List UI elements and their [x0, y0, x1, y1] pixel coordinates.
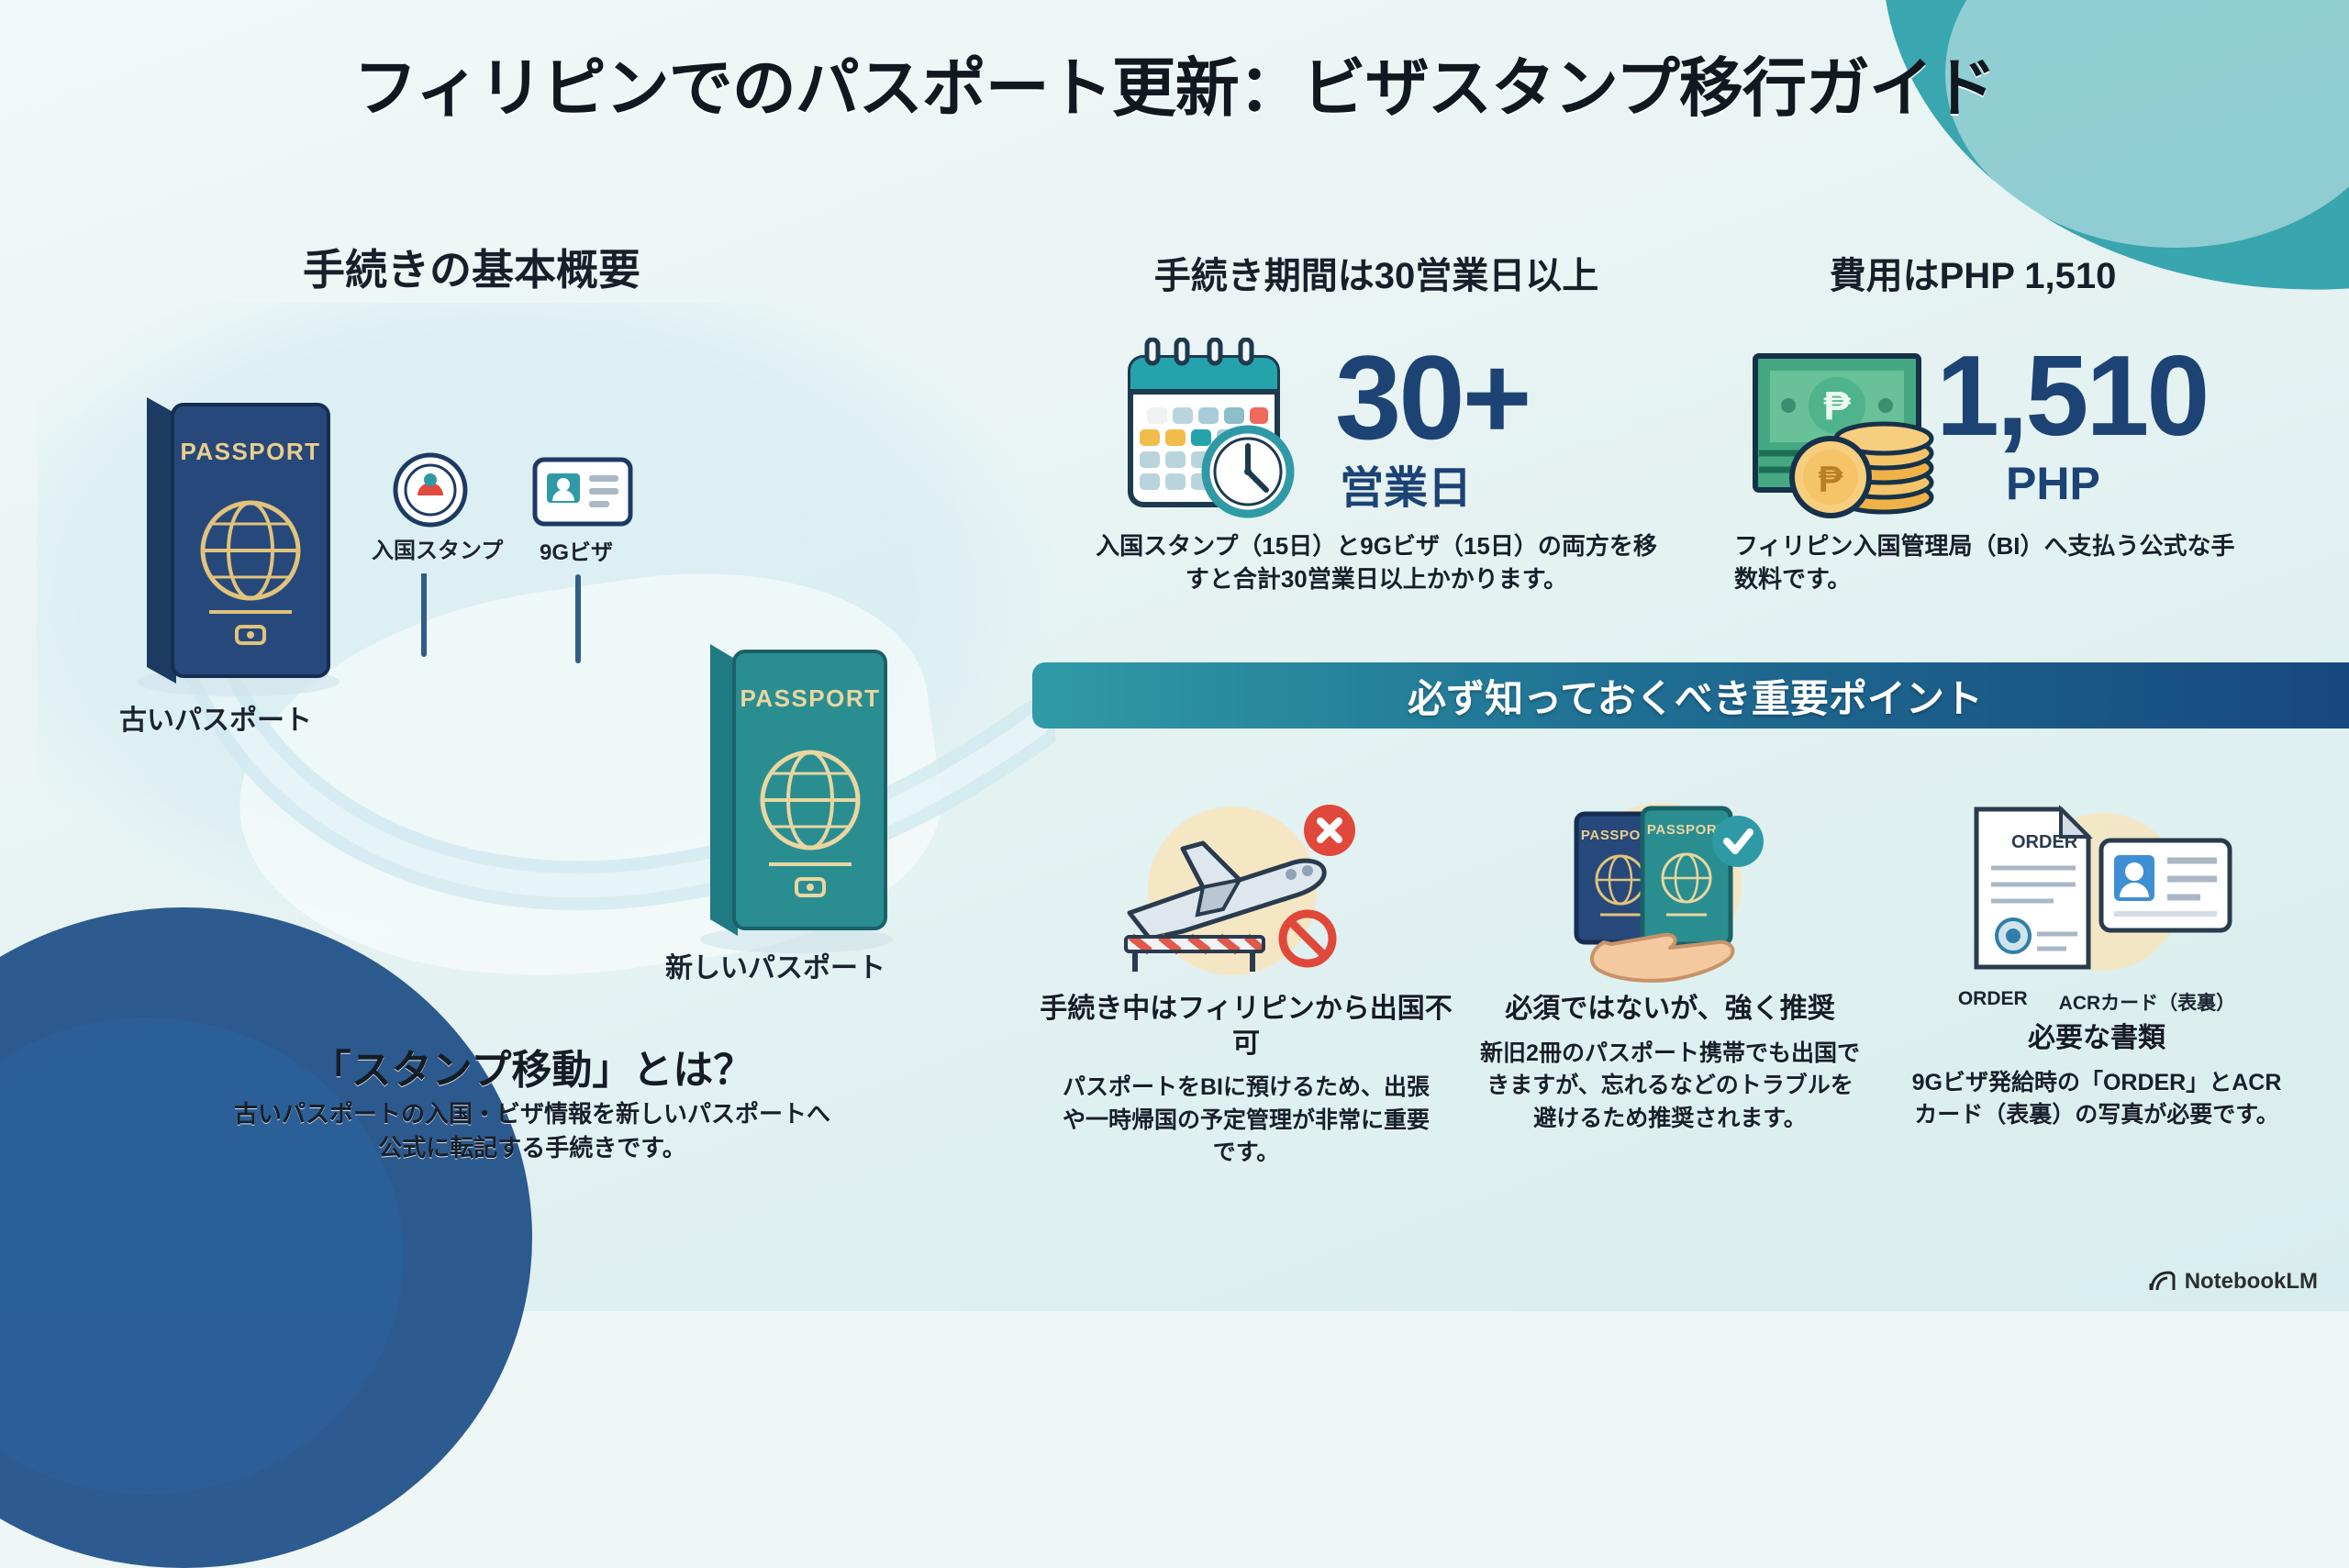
fee-heading: 費用はPHP 1,510	[1743, 246, 2202, 299]
old-passport-icon: PASSPORT	[110, 381, 358, 697]
entry-stamp-label: 入国スタンプ	[372, 532, 503, 564]
duration-heading: 手続き期間は30営業日以上	[1092, 246, 1661, 299]
card-documents: ORDER	[1886, 789, 2308, 1132]
page-title: フィリピンでのパスポート更新：ビザスタンプ移行ガイド	[0, 37, 2349, 129]
card-no-exit-icon-wrap	[1035, 789, 1457, 986]
calendar-clock-icon	[1119, 338, 1317, 521]
key-points-banner-label: 必ず知っておくべき重要ポイント	[1408, 668, 1983, 724]
duration-value: 30+	[1335, 341, 1530, 455]
card-two-passports: PASSPORT PASSPORT	[1459, 789, 1881, 1135]
two-passports-check-icon: PASSPORT PASSPORT	[1532, 792, 1808, 984]
left-section-heading: 手続きの基本概要	[303, 237, 640, 297]
old-passport-label: 古いパスポート	[119, 697, 312, 738]
card-two-passports-heading: 必須ではないが、強く推奨	[1459, 992, 1881, 1027]
document-captions: ORDER ACRカード（表裏）	[1886, 988, 2308, 1016]
visa-card-icon	[532, 457, 633, 527]
fee-unit: PHP	[2006, 457, 2100, 510]
doc-caption-order: ORDER	[1958, 988, 2028, 1016]
doc-caption-acr: ACRカード（表裏）	[2059, 988, 2236, 1016]
card-two-passports-icon-wrap: PASSPORT PASSPORT	[1459, 789, 1881, 986]
duration-unit: 営業日	[1340, 451, 1472, 516]
card-documents-icon-wrap: ORDER	[1886, 789, 2308, 986]
visa-label: 9Gビザ	[540, 534, 613, 566]
new-passport-icon: PASSPORT	[679, 624, 908, 954]
entry-stamp-icon	[390, 450, 471, 530]
svg-text:₱: ₱	[1823, 384, 1851, 428]
card-no-exit-body: パスポートをBIに預けるため、出張や一時帰国の予定管理が非常に重要です。	[1035, 1072, 1457, 1170]
svg-text:PASSPORT: PASSPORT	[180, 438, 320, 465]
airplane-no-exit-icon	[1095, 792, 1397, 984]
documents-icon: ORDER	[1945, 796, 2248, 980]
stamp-move-body: 古いパスポートの入国・ビザ情報を新しいパスポートへ公式に転記する手続きです。	[229, 1097, 835, 1165]
stamp-move-title: 「スタンプ移動」とは？	[184, 1037, 881, 1095]
card-no-exit-heading: 手続き中はフィリピンから出国不可	[1035, 992, 1457, 1061]
new-passport-label: 新しいパスポート	[665, 945, 885, 985]
card-no-exit: 手続き中はフィリピンから出国不可 パスポートをBIに預けるため、出張や一時帰国の…	[1035, 789, 1457, 1170]
key-points-banner: 必ず知っておくべき重要ポイント	[1032, 662, 2349, 728]
card-two-passports-body: 新旧2冊のパスポート携帯でも出国できますが、忘れるなどのトラブルを避けるため推奨…	[1459, 1038, 1881, 1136]
svg-text:PASSPORT: PASSPORT	[740, 684, 880, 712]
fee-body: フィリピン入国管理局（BI）へ支払う公式な手数料です。	[1734, 530, 2248, 596]
duration-body: 入国スタンプ（15日）と9Gビザ（15日）の両方を移すと合計30営業日以上かかり…	[1092, 530, 1661, 596]
svg-text:ORDER: ORDER	[2011, 832, 2078, 852]
connector-lines	[367, 573, 697, 684]
fee-value: 1,510	[1936, 343, 2207, 451]
card-documents-heading: 必要な書類	[1886, 1021, 2308, 1056]
money-cash-icon: ₱ ₱	[1748, 339, 1945, 518]
notebooklm-watermark: NotebookLM	[2148, 1269, 2318, 1295]
notebooklm-watermark-label: NotebookLM	[2185, 1269, 2318, 1295]
card-documents-body: 9Gビザ発給時の「ORDER」とACRカード（表裏）の写真が必要です。	[1886, 1067, 2308, 1132]
svg-text:₱: ₱	[1819, 460, 1843, 500]
notebooklm-logo-icon	[2148, 1270, 2176, 1294]
infographic-canvas: フィリピンでのパスポート更新：ビザスタンプ移行ガイド 手続きの基本概要 PASS…	[0, 0, 2349, 1311]
